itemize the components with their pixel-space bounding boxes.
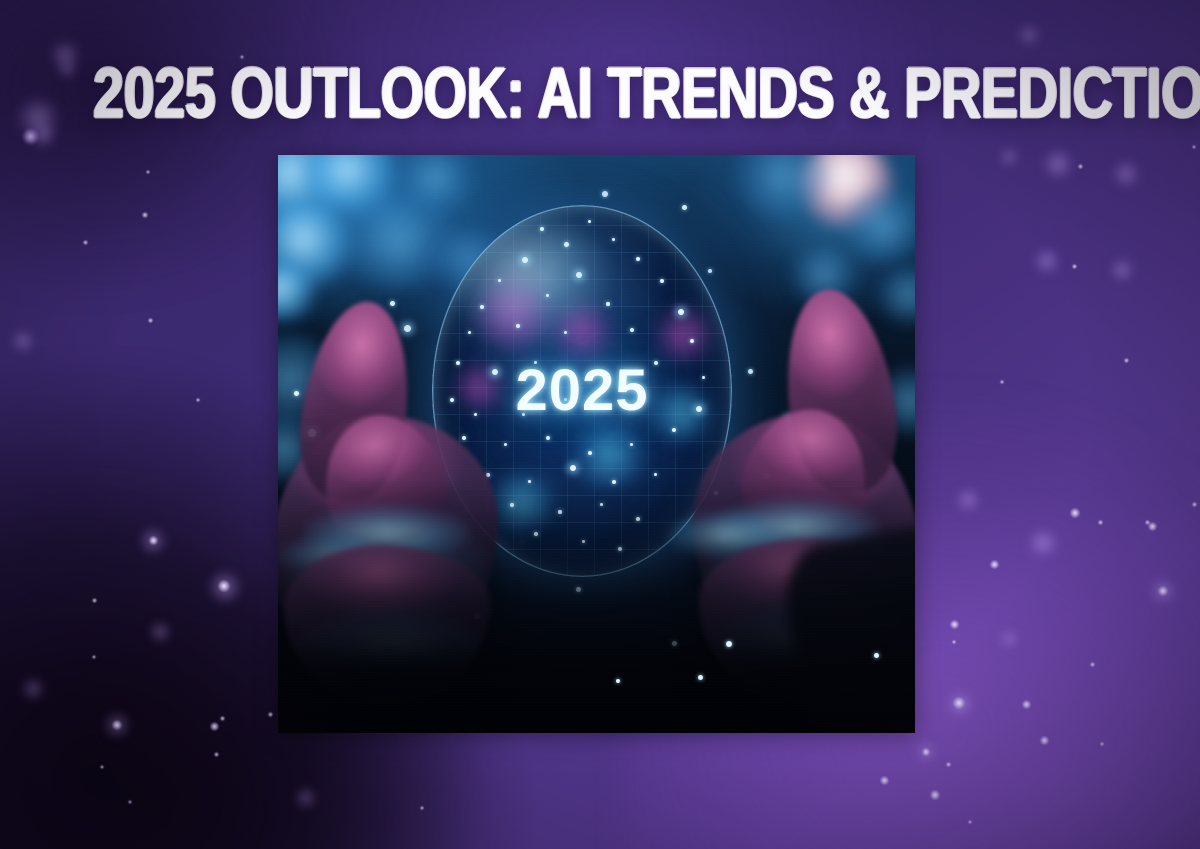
background-bokeh — [922, 748, 930, 756]
background-bokeh — [210, 722, 219, 731]
background-bokeh — [1000, 630, 1018, 648]
hero-sparkle — [698, 675, 703, 680]
background-bokeh — [296, 788, 316, 808]
background-bokeh — [22, 128, 39, 145]
background-bokeh — [930, 790, 940, 800]
background-bokeh — [128, 800, 132, 804]
background-bokeh — [1000, 380, 1004, 384]
background-bokeh — [952, 640, 956, 644]
background-bokeh — [950, 620, 959, 629]
poster-root: 2025 OUTLOOK: AI TRENDS & PREDICTIONS — [0, 0, 1200, 849]
background-bokeh — [196, 398, 200, 402]
background-bokeh — [142, 212, 148, 218]
background-bokeh — [83, 240, 88, 245]
background-bokeh — [420, 806, 424, 810]
background-bokeh — [112, 720, 122, 730]
background-bokeh — [1100, 742, 1104, 746]
background-bokeh — [149, 536, 158, 545]
background-bokeh — [12, 330, 34, 352]
background-bokeh — [1022, 700, 1031, 709]
background-bokeh — [880, 776, 889, 785]
hero-image-bottom-shade — [278, 479, 915, 733]
background-bokeh — [1110, 258, 1134, 282]
background-bokeh — [1192, 145, 1196, 149]
background-bokeh — [1040, 736, 1049, 745]
hero-image: 2025 — [278, 155, 915, 733]
background-bokeh — [22, 678, 44, 700]
background-bokeh — [990, 560, 999, 569]
background-bokeh — [1090, 662, 1095, 667]
background-bokeh — [1078, 164, 1083, 169]
background-bokeh — [1042, 148, 1074, 180]
page-title: 2025 OUTLOOK: AI TRENDS & PREDICTIONS — [93, 58, 1107, 127]
background-bokeh — [150, 622, 170, 642]
background-bokeh — [1028, 528, 1058, 558]
background-bokeh — [1070, 508, 1080, 518]
background-bokeh — [220, 716, 225, 721]
hero-sparkle — [874, 653, 879, 658]
background-bokeh — [218, 580, 230, 592]
background-bokeh — [1098, 520, 1103, 525]
background-bokeh — [1192, 502, 1197, 507]
hero-sparkle — [726, 641, 732, 647]
background-bokeh — [100, 765, 104, 769]
background-bokeh — [946, 762, 951, 767]
background-bokeh — [968, 820, 972, 824]
background-bokeh — [956, 488, 980, 512]
hero-bokeh-cyan — [844, 189, 915, 263]
background-bokeh — [1158, 586, 1168, 596]
background-bokeh — [92, 655, 96, 659]
background-bokeh — [92, 598, 97, 603]
background-bokeh — [58, 60, 76, 78]
background-bokeh — [1112, 160, 1140, 188]
hero-sparkle — [616, 679, 620, 683]
background-bokeh — [148, 318, 153, 323]
background-bokeh — [953, 697, 965, 709]
background-bokeh — [214, 752, 219, 757]
background-bokeh — [1124, 358, 1129, 363]
background-bokeh — [268, 712, 273, 717]
background-bokeh — [1018, 24, 1040, 46]
background-bokeh — [1000, 148, 1018, 166]
background-bokeh — [1148, 522, 1157, 531]
background-bokeh — [1072, 264, 1077, 269]
background-bokeh — [146, 170, 150, 174]
background-bokeh — [1034, 248, 1060, 274]
